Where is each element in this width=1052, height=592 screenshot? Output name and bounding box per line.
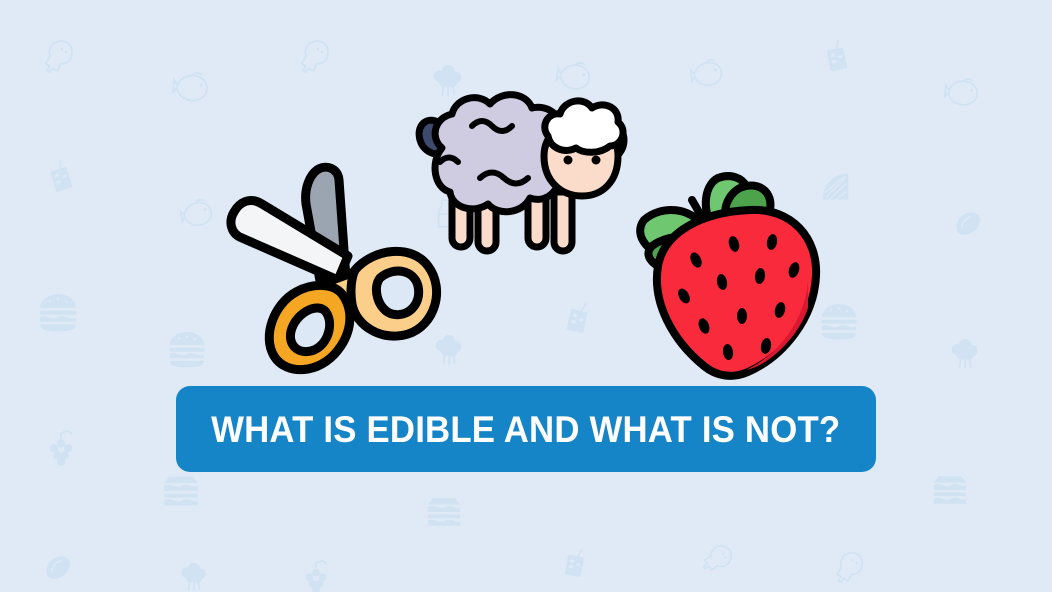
juice-box-icon xyxy=(817,35,857,75)
chicken-drumstick-icon xyxy=(290,32,335,77)
sheep-leg-4 xyxy=(554,192,572,251)
burger-icon xyxy=(166,328,208,370)
sandwich-icon xyxy=(930,470,970,510)
scissors-screw-icon xyxy=(325,281,334,290)
juice-box-icon xyxy=(559,297,599,337)
broccoli-icon xyxy=(176,560,210,592)
sheep-illustration xyxy=(412,78,637,258)
chicken-drumstick-icon xyxy=(697,537,736,576)
sheep-eye-left xyxy=(564,156,573,165)
quiz-card-canvas: WHAT IS EDIBLE AND WHAT IS NOT? xyxy=(0,0,1052,592)
grapes-icon xyxy=(42,428,80,466)
chicken-drumstick-icon xyxy=(34,32,79,77)
chicken-drumstick-icon xyxy=(827,545,870,588)
sandwich-icon xyxy=(424,492,464,532)
page-title: WHAT IS EDIBLE AND WHAT IS NOT? xyxy=(211,411,840,448)
scissors-handle-dark-hole xyxy=(290,308,329,352)
fish-icon xyxy=(170,66,214,110)
fish-icon xyxy=(688,54,728,94)
juice-box-icon xyxy=(557,543,594,580)
scissors-handle-light-hole xyxy=(376,271,418,315)
sheep-wool-tuft xyxy=(545,101,623,152)
grapes-icon xyxy=(298,558,334,592)
sheep-eye-right xyxy=(592,156,601,165)
title-banner: WHAT IS EDIBLE AND WHAT IS NOT? xyxy=(176,386,876,472)
lemon-icon xyxy=(40,550,74,584)
burger-icon xyxy=(36,290,80,334)
sandwich-icon xyxy=(160,470,202,512)
lemon-icon xyxy=(950,206,984,240)
broccoli-icon xyxy=(946,336,982,372)
strawberry-illustration xyxy=(622,160,847,385)
fish-icon xyxy=(942,72,984,114)
juice-box-icon xyxy=(40,154,83,197)
fish-icon xyxy=(178,194,219,235)
